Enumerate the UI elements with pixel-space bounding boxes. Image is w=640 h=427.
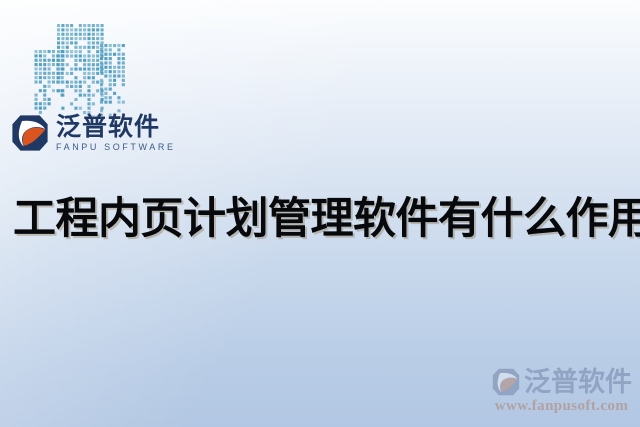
brand-name-cn: 泛普软件 [56, 114, 176, 139]
brand-wordmark: 泛普软件 FANPU SOFTWARE [56, 114, 176, 152]
fanpu-logo-icon [10, 113, 50, 153]
brand-logo-lockup: 泛普软件 FANPU SOFTWARE [10, 113, 176, 153]
watermark-logo-row: 泛普软件 [491, 367, 632, 397]
brand-name-en: FANPU SOFTWARE [56, 143, 176, 152]
watermark-name-cn: 泛普软件 [524, 369, 632, 396]
fanpu-watermark-icon [491, 367, 521, 397]
banner-headline: 工程内页计划管理软件有什么作用 [13, 196, 629, 242]
site-watermark: 泛普软件 www.fanpusoft.com [491, 367, 632, 415]
promo-banner: 泛普软件 FANPU SOFTWARE 工程内页计划管理软件有什么作用 泛普软件… [0, 0, 640, 427]
watermark-url: www.fanpusoft.com [495, 398, 628, 415]
pixel-city-skyline-graphic [30, 20, 126, 116]
